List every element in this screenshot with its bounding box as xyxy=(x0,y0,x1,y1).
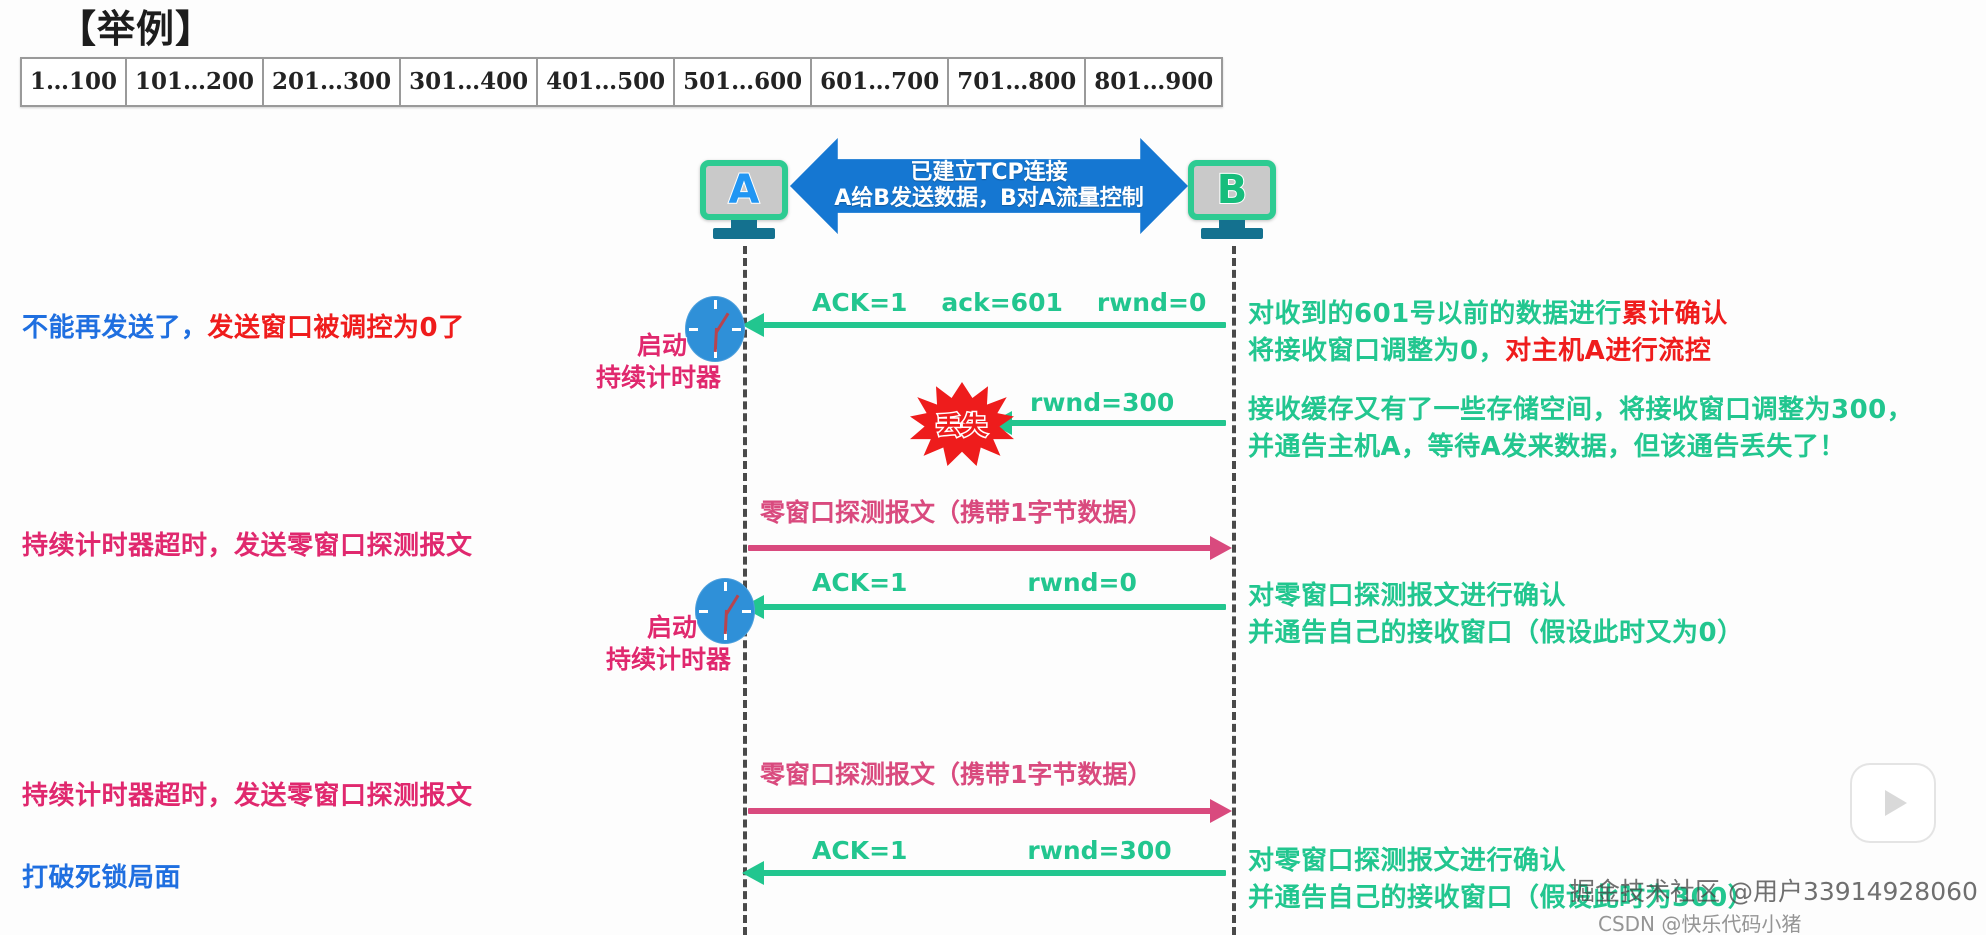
left-note-3-text: 持续计时器超时，发送零窗口探测报文 xyxy=(22,781,473,811)
left-note-window-zero: 不能再发送了，发送窗口被调控为0了 xyxy=(22,310,465,347)
clock-tick xyxy=(742,610,751,613)
arrow-shaft xyxy=(748,545,1212,551)
lifeline-host-b xyxy=(1232,246,1236,935)
ack-flag-text: ACK=1 xyxy=(812,836,907,865)
left-note-1-blue: 不能再发送了， xyxy=(22,313,208,343)
connection-banner-arrow: 已建立TCP连接 A给B发送数据，B对A流量控制 xyxy=(790,138,1188,234)
monitor-screen: B xyxy=(1188,160,1276,220)
message-label-zero-window-probe-2: 零窗口探测报文（携带1字节数据） xyxy=(760,762,1152,787)
right-note-3-line1: 对零窗口探测报文进行确认 xyxy=(1248,578,1744,615)
segment-cell: 101…200 xyxy=(127,59,264,105)
message-arrow-ack-rwnd-0 xyxy=(762,604,1226,610)
page-title: 【举例】 xyxy=(58,0,214,53)
timer-label-line1: 启动 xyxy=(647,608,697,644)
tcp-flow-control-diagram: 【举例】 1…100 101…200 201…300 301…400 401…5… xyxy=(0,0,1986,935)
arrow-shaft xyxy=(762,322,1226,328)
segment-table: 1…100 101…200 201…300 301…400 401…500 50… xyxy=(20,57,1223,107)
persistence-timer-badge-2: 启动 持续计时器 xyxy=(555,578,755,674)
watermark-csdn: CSDN @快乐代码小猪 xyxy=(1598,908,1801,935)
ack-flag-text: ACK=1 xyxy=(812,288,907,317)
connection-banner-line2: A给B发送数据，B对A流量控制 xyxy=(834,186,1144,212)
timer-label-line1: 启动 xyxy=(637,326,687,362)
arrow-head-left-icon xyxy=(742,861,764,885)
clock-icon xyxy=(685,296,745,362)
monitor-neck xyxy=(731,220,757,228)
watermark-juejin: 掘金技术社区 @用户33914928060 xyxy=(1570,872,1978,908)
message-arrow-ack-601 xyxy=(762,322,1226,328)
segment-cell: 601…700 xyxy=(812,59,949,105)
clock-tick xyxy=(714,300,717,309)
play-triangle-icon xyxy=(1885,790,1907,816)
right-note-1-line1-red: 累计确认 xyxy=(1622,299,1728,329)
left-note-timer-timeout-1: 持续计时器超时，发送零窗口探测报文 xyxy=(22,528,473,565)
monitor-neck xyxy=(1219,220,1245,228)
right-note-1-line2-green: 将接收窗口调整为0， xyxy=(1248,336,1505,366)
right-note-cumulative-ack: 对收到的601号以前的数据进行累计确认 将接收窗口调整为0，对主机A进行流控 xyxy=(1248,296,1728,370)
segment-cell: 801…900 xyxy=(1086,59,1221,105)
clock-tick xyxy=(689,328,698,331)
arrow-shaft xyxy=(1010,420,1226,426)
host-b-icon: B xyxy=(1188,160,1276,238)
right-note-1-line1: 对收到的601号以前的数据进行累计确认 xyxy=(1248,296,1728,333)
rwnd-text: rwnd=0 xyxy=(1097,288,1206,317)
message-label-ack-601: ACK=1ack=601rwnd=0 xyxy=(812,290,1206,315)
segment-cell: 1…100 xyxy=(22,59,127,105)
lost-badge-label: 丢失 xyxy=(936,406,988,442)
arrow-head-right-icon xyxy=(1210,799,1232,823)
segment-cell: 501…600 xyxy=(675,59,812,105)
arrow-head-right-icon xyxy=(1210,536,1232,560)
right-note-1-line1-green: 对收到的601号以前的数据进行 xyxy=(1248,299,1622,329)
clock-tick xyxy=(699,610,708,613)
right-note-probe-ack-1: 对零窗口探测报文进行确认 并通告自己的接收窗口（假设此时又为0） xyxy=(1248,578,1744,652)
connection-banner-line1: 已建立TCP连接 xyxy=(910,160,1067,186)
monitor-base xyxy=(1201,228,1263,239)
message-arrow-zero-window-probe-1 xyxy=(748,545,1212,551)
play-logo-icon xyxy=(1850,763,1936,843)
timer-label-line2: 持续计时器 xyxy=(596,358,721,394)
message-arrow-zero-window-probe-2 xyxy=(748,808,1212,814)
clock-tick xyxy=(732,328,741,331)
host-a-icon: A xyxy=(700,160,788,238)
message-arrow-rwnd-300-lost xyxy=(1010,420,1226,426)
clock-tick xyxy=(724,582,727,591)
left-note-1-red: 发送窗口被调控为0了 xyxy=(208,313,465,343)
message-label-ack-rwnd-0: ACK=1rwnd=0 xyxy=(812,570,1137,595)
arrow-shaft xyxy=(762,870,1226,876)
monitor-screen: A xyxy=(700,160,788,220)
clock-hour-hand xyxy=(724,610,728,634)
monitor-base xyxy=(713,228,775,239)
left-note-2-text: 持续计时器超时，发送零窗口探测报文 xyxy=(22,531,473,561)
arrow-shaft xyxy=(748,808,1212,814)
left-note-4-text: 打破死锁局面 xyxy=(22,863,181,893)
rwnd-text: rwnd=300 xyxy=(1027,836,1171,865)
segment-cell: 301…400 xyxy=(401,59,538,105)
message-label-ack-rwnd-300: ACK=1rwnd=300 xyxy=(812,838,1172,863)
segment-cell: 201…300 xyxy=(264,59,401,105)
host-a-label: A xyxy=(729,170,760,210)
lost-packet-badge: 丢失 xyxy=(910,382,1014,466)
host-b-label: B xyxy=(1217,170,1248,210)
message-label-zero-window-probe-1: 零窗口探测报文（携带1字节数据） xyxy=(760,500,1152,525)
left-note-timer-timeout-2: 持续计时器超时，发送零窗口探测报文 xyxy=(22,778,473,815)
message-arrow-ack-rwnd-300 xyxy=(762,870,1226,876)
rwnd-text: rwnd=0 xyxy=(1027,568,1136,597)
clock-hour-hand xyxy=(714,328,718,352)
timer-label-line2: 持续计时器 xyxy=(606,640,731,676)
segment-cell: 701…800 xyxy=(949,59,1086,105)
right-note-buffer-freed: 接收缓存又有了一些存储空间，将接收窗口调整为300， 并通告主机A，等待A发来数… xyxy=(1248,392,1913,466)
right-note-1-line2-red: 对主机A进行流控 xyxy=(1505,336,1711,366)
right-note-2-line2: 并通告主机A，等待A发来数据，但该通告丢失了！ xyxy=(1248,429,1913,466)
persistence-timer-badge-1: 启动 持续计时器 xyxy=(545,296,745,392)
right-note-1-line2: 将接收窗口调整为0，对主机A进行流控 xyxy=(1248,333,1728,370)
left-note-break-deadlock: 打破死锁局面 xyxy=(22,860,181,897)
arrow-shaft xyxy=(762,604,1226,610)
ack-flag-text: ACK=1 xyxy=(812,568,907,597)
message-label-rwnd-300-lost: rwnd=300 xyxy=(1030,390,1174,415)
right-note-2-line1: 接收缓存又有了一些存储空间，将接收窗口调整为300， xyxy=(1248,392,1913,429)
arrow-head-left-icon xyxy=(742,313,764,337)
rwnd-text: rwnd=300 xyxy=(1030,388,1174,417)
clock-icon xyxy=(695,578,755,644)
ack-number-text: ack=601 xyxy=(941,288,1062,317)
right-note-3-line2: 并通告自己的接收窗口（假设此时又为0） xyxy=(1248,615,1744,652)
segment-cell: 401…500 xyxy=(538,59,675,105)
